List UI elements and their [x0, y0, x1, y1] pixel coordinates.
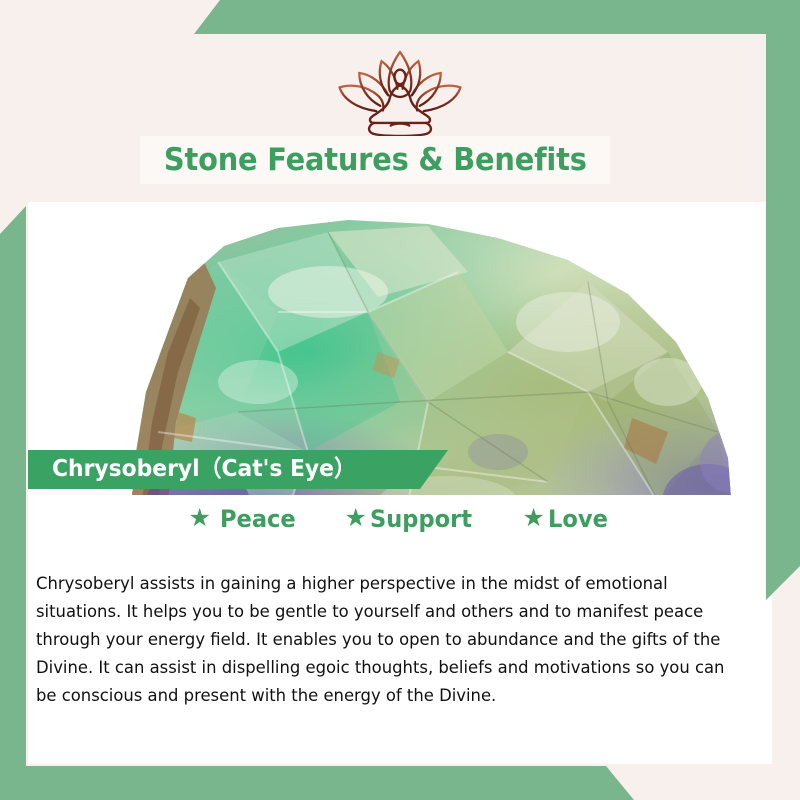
benefit-item-peace: ★ Peace [188, 505, 300, 533]
description-text: Chrysoberyl assists in gaining a higher … [36, 570, 731, 710]
frame-band-left [0, 206, 26, 800]
description-section: ★ Peace ★ Support ★ Love Chrysoberyl ass… [28, 495, 772, 764]
benefit-item-support: ★ Support [344, 505, 478, 533]
page-title-ribbon: Stone Features & Benefits [140, 136, 610, 184]
benefits-row: ★ Peace ★ Support ★ Love [28, 505, 772, 533]
page-title: Stone Features & Benefits [164, 142, 587, 178]
benefit-label: Support [370, 505, 472, 533]
star-icon: ★ [344, 506, 366, 531]
benefit-item-love: ★ Love [522, 505, 611, 533]
stone-name-label: Chrysoberyl（Cat's Eye） [52, 450, 356, 489]
stone-name-banner: Chrysoberyl（Cat's Eye） [28, 450, 448, 489]
stone-info-card: BUDDHA STONES [0, 0, 800, 800]
frame-band-bottom [0, 766, 634, 800]
lotus-meditation-logo-icon [334, 48, 466, 140]
star-icon: ★ [522, 506, 544, 531]
benefit-label: Love [548, 505, 608, 533]
frame-band-top [194, 0, 800, 34]
benefit-label: Peace [220, 505, 296, 533]
star-icon: ★ [188, 506, 210, 531]
